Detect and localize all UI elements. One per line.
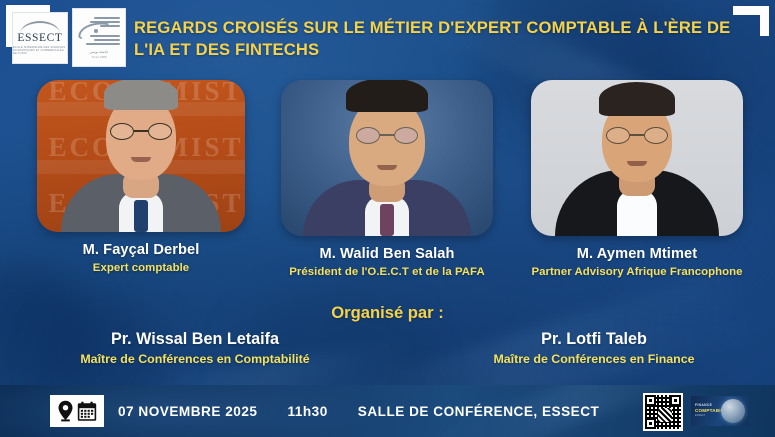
event-venue: SALLE DE CONFÉRENCE, ESSECT [358, 404, 600, 419]
speaker-role: Président de l'O.E.C.T et de la PAFA [268, 266, 506, 278]
university-of-tunis-logo: جامعة تونس Tunis 1988 [72, 8, 126, 67]
footer-details: 07 NOVEMBRE 2025 11h30 SALLE DE CONFÉREN… [118, 385, 599, 437]
organiser-block: Pr. Wissal Ben Letaifa Maître de Confére… [60, 330, 330, 366]
speaker-role: Partner Advisory Afrique Francophone [518, 266, 756, 278]
event-time: 11h30 [287, 404, 327, 419]
university-logo-arabic: جامعة تونس [90, 50, 108, 54]
qr-code[interactable] [643, 393, 683, 431]
location-pin-icon [57, 400, 74, 422]
speaker-photo [281, 80, 493, 236]
essect-logo-text: ESSECT [17, 33, 62, 45]
poster-footer: 07 NOVEMBRE 2025 11h30 SALLE DE CONFÉREN… [0, 385, 775, 437]
organiser-role: Maître de Conférences en Finance [459, 352, 729, 366]
speaker-card: M. Walid Ben Salah Président de l'O.E.C.… [268, 80, 506, 278]
poster-root: ESSECT ECOLE SUPERIEURE DES SCIENCES ECO… [0, 0, 775, 437]
poster-header: ESSECT ECOLE SUPERIEURE DES SCIENCES ECO… [0, 0, 775, 74]
organiser-role: Maître de Conférences en Comptabilité [60, 352, 330, 366]
organiser-block: Pr. Lotfi Taleb Maître de Conférences en… [459, 330, 729, 366]
eyeglasses-icon [356, 127, 418, 144]
speaker-name: M. Fayçal Derbel [22, 242, 260, 258]
globe-icon [721, 399, 745, 423]
organiser-name: Pr. Wissal Ben Letaifa [60, 330, 330, 349]
page-title: REGARDS CROISÉS SUR LE MÉTIER D'EXPERT C… [134, 17, 756, 61]
essect-logo: ESSECT ECOLE SUPERIEURE DES SCIENCES ECO… [12, 12, 68, 64]
speaker-photo [531, 80, 743, 236]
eyeglasses-icon [110, 123, 172, 140]
organisers-heading: Organisé par : [0, 303, 775, 323]
speaker-card: M. Aymen Mtimet Partner Advisory Afrique… [518, 80, 756, 278]
university-logo-year: Tunis 1988 [92, 55, 107, 59]
speaker-role: Expert comptable [22, 262, 260, 274]
calendar-icon [77, 401, 97, 422]
organiser-name: Pr. Lotfi Taleb [459, 330, 729, 349]
speaker-name: M. Aymen Mtimet [518, 246, 756, 262]
footer-icon-box [50, 395, 104, 427]
event-date: 07 NOVEMBRE 2025 [118, 404, 257, 419]
eyeglasses-icon [606, 127, 668, 144]
speaker-name: M. Walid Ben Salah [268, 246, 506, 262]
university-mark-icon [78, 16, 120, 47]
finance-comptabilite-badge: FINANCE COMPTABILITÉ ESSECT [691, 396, 749, 426]
speakers-section: ECONOMIST ECONOMIST ECONOMIST M. Fayçal … [0, 80, 775, 270]
speaker-photo: ECONOMIST ECONOMIST ECONOMIST [37, 80, 245, 232]
essect-logo-subtitle: ECOLE SUPERIEURE DES SCIENCES ECONOMIQUE… [13, 46, 67, 55]
speaker-card: ECONOMIST ECONOMIST ECONOMIST M. Fayçal … [22, 80, 260, 274]
